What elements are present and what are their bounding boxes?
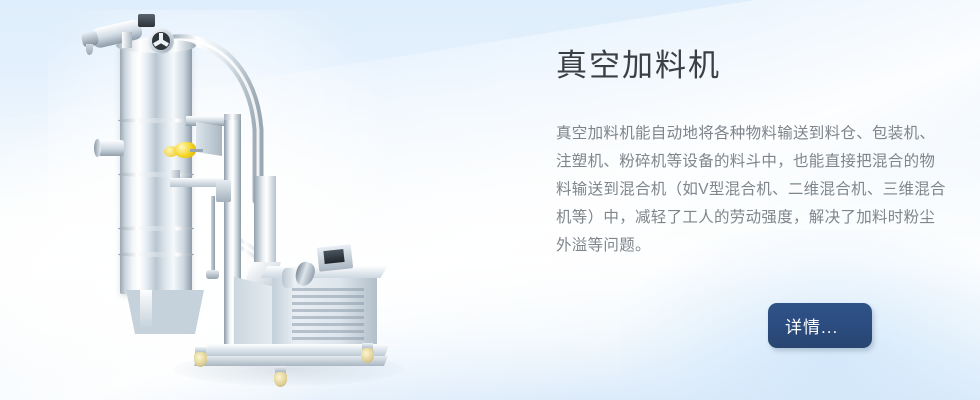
ventilation-louvers xyxy=(292,288,364,346)
hopper-cone xyxy=(126,290,204,334)
wheeled-base-frame-lower xyxy=(194,356,388,366)
column-adjust-knob xyxy=(206,270,219,279)
valve-outlet xyxy=(86,44,93,55)
caster-wheel xyxy=(361,348,374,363)
inlet-stub xyxy=(98,140,124,156)
hopper-ring xyxy=(118,226,194,231)
product-description: 真空加料机能自动地将各种物料输送到料仓、包装机、注塑机、粉碎机等设备的料斗中，也… xyxy=(556,120,948,260)
cabinet-pipe-back xyxy=(282,268,296,288)
hopper-ring xyxy=(118,118,194,123)
column-rod xyxy=(211,196,215,274)
pneumatic-valve-stem xyxy=(122,32,132,48)
hopper-ring xyxy=(118,172,194,177)
caster-wheel xyxy=(274,372,287,387)
solenoid-block xyxy=(138,14,155,27)
column-slider xyxy=(216,180,231,202)
product-banner: 真空加料机 真空加料机能自动地将各种物料输送到料仓、包装机、注塑机、粉碎机等设备… xyxy=(0,0,980,400)
hopper-ring xyxy=(118,252,194,257)
butterfly-valve-stem xyxy=(190,149,203,152)
banner-text-column: 真空加料机 真空加料机能自动地将各种物料输送到料仓、包装机、注塑机、粉碎机等设备… xyxy=(556,46,956,260)
detail-button[interactable]: 详情... xyxy=(768,303,872,348)
control-panel-display xyxy=(323,249,344,264)
page-title: 真空加料机 xyxy=(556,46,956,86)
caster-wheel xyxy=(194,352,207,367)
inlet-stub-cap xyxy=(94,139,101,157)
hopper-cone-highlight xyxy=(140,290,152,328)
product-image xyxy=(78,0,398,390)
